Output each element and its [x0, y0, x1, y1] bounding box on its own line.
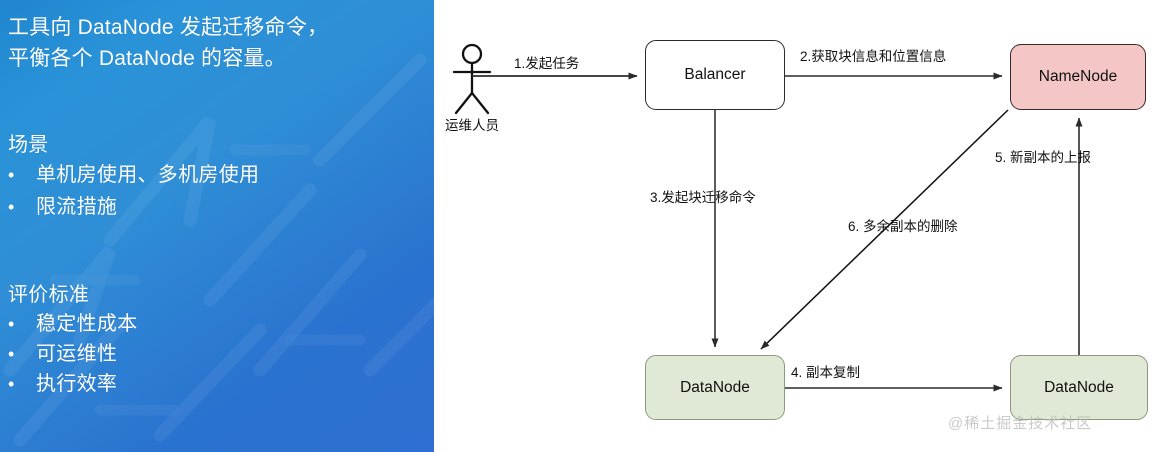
node-namenode[interactable]: NameNode: [1010, 44, 1146, 110]
diagram-watermark: @稀土掘金技术社区: [948, 412, 1092, 433]
bullet-dot-icon: •: [8, 198, 36, 216]
edge-label-5: 5. 新副本的上报: [995, 146, 1091, 166]
bullet-dot-icon: •: [8, 166, 36, 184]
diagram-panel: Balancer NameNode DataNode DataNode 运维人员…: [434, 0, 1162, 452]
slide-heading: 工具向 DataNode 发起迁移命令， 平衡各个 DataNode 的容量。: [8, 12, 428, 74]
edge-label-3: 3.发起块迁移命令: [650, 186, 756, 206]
slide-bullet-criteria-1: • 可运维性: [8, 337, 117, 366]
bullet-dot-icon: •: [8, 345, 36, 363]
edge-label-6: 6. 多余副本的删除: [848, 215, 958, 235]
node-balancer-label: Balancer: [684, 66, 745, 84]
edge-label-2: 2.获取块信息和位置信息: [800, 45, 946, 65]
slide-section-title-scene: 场景: [8, 128, 49, 157]
screenshot-root: 工具向 DataNode 发起迁移命令， 平衡各个 DataNode 的容量。 …: [0, 0, 1162, 452]
slide-bullet-label: 稳定性成本: [36, 307, 138, 336]
slide-bullet-label: 可运维性: [36, 337, 117, 366]
slide-heading-line-1: 工具向 DataNode 发起迁移命令，: [8, 12, 428, 43]
slide-bullet-criteria-2: • 执行效率: [8, 367, 117, 396]
node-namenode-label: NameNode: [1039, 68, 1117, 86]
node-datanode-left[interactable]: DataNode: [645, 355, 785, 420]
slide-bullet-criteria-0: • 稳定性成本: [8, 307, 138, 336]
node-datanode-left-label: DataNode: [680, 379, 750, 397]
slide-bullet-label: 单机房使用、多机房使用: [36, 158, 259, 187]
slide-bullet-label: 限流措施: [36, 190, 117, 219]
actor-stick-figure-icon: [454, 45, 490, 113]
edge-label-1: 1.发起任务: [514, 52, 579, 72]
node-balancer[interactable]: Balancer: [645, 40, 785, 110]
actor-label: 运维人员: [445, 114, 499, 134]
slide-section-title-criteria: 评价标准: [8, 278, 89, 307]
slide-panel: 工具向 DataNode 发起迁移命令， 平衡各个 DataNode 的容量。 …: [0, 0, 434, 452]
node-datanode-right-label: DataNode: [1044, 379, 1114, 397]
slide-bullet-scene-0: • 单机房使用、多机房使用: [8, 158, 259, 187]
slide-heading-line-2: 平衡各个 DataNode 的容量。: [8, 43, 428, 74]
node-datanode-right[interactable]: DataNode: [1010, 355, 1148, 420]
edge-label-4: 4. 副本复制: [791, 361, 860, 381]
bullet-dot-icon: •: [8, 375, 36, 393]
slide-bullet-label: 执行效率: [36, 367, 117, 396]
slide-bullet-scene-1: • 限流措施: [8, 190, 117, 219]
bullet-dot-icon: •: [8, 315, 36, 333]
